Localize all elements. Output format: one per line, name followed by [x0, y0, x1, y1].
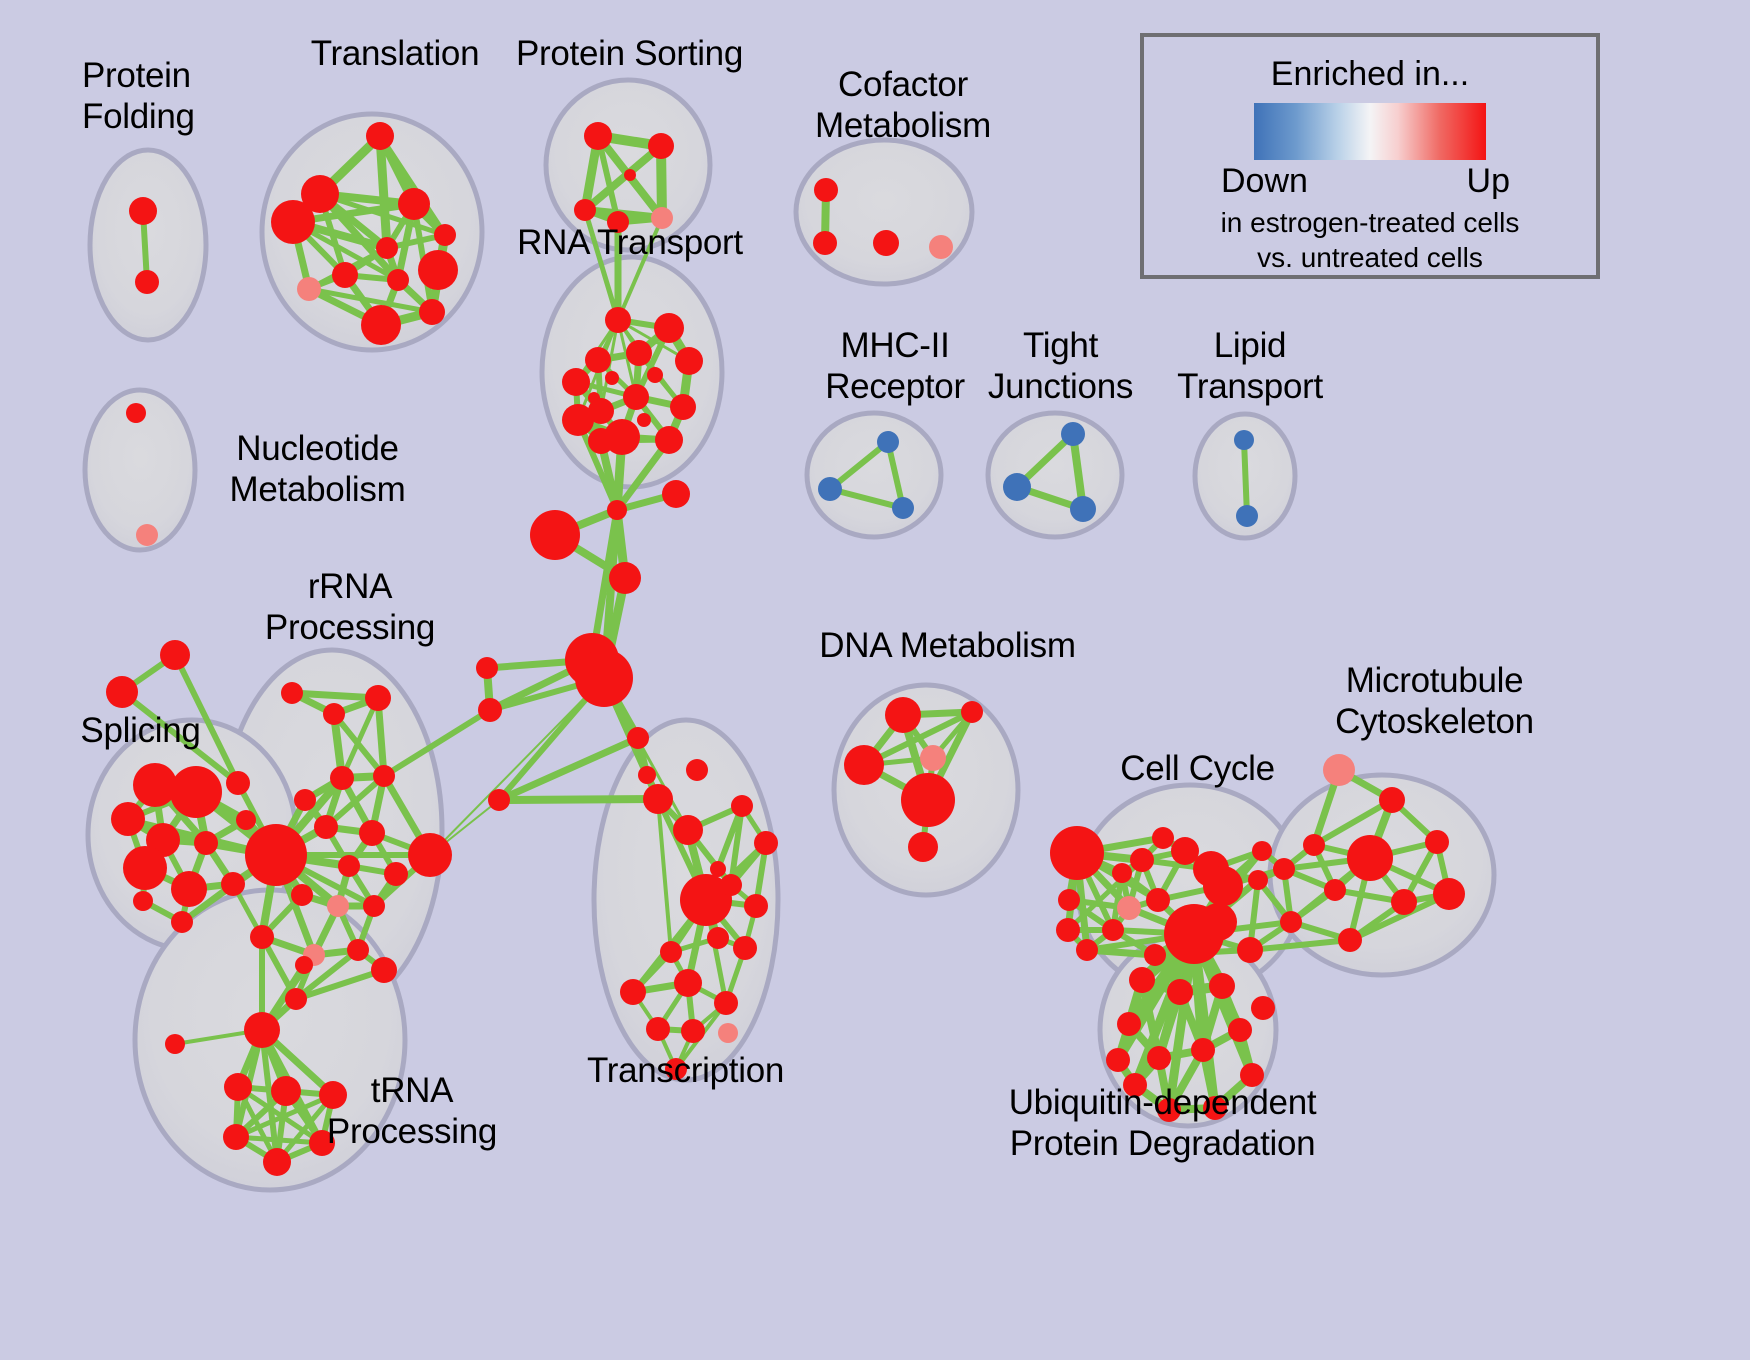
cluster-label-microtubule-cytoskeleton: Microtubule Cytoskeleton — [1302, 660, 1567, 742]
cluster-label-transcription: Transcription — [568, 1050, 803, 1091]
legend-down-label: Down — [1221, 162, 1308, 201]
cluster-label-nucleotide-metabolism: Nucleotide Metabolism — [195, 428, 440, 510]
legend-box: Enriched in... Down Up in estrogen-treat… — [1140, 33, 1600, 279]
legend-color-gradient-bar — [1254, 103, 1486, 160]
hull-tight-junctions — [988, 413, 1122, 537]
cluster-label-lipid-transport: Lipid Transport — [1155, 325, 1345, 407]
cluster-label-cofactor-metabolism: Cofactor Metabolism — [793, 64, 1013, 146]
cluster-label-trna-processing: tRNA Processing — [312, 1070, 512, 1152]
cluster-label-dna-metabolism: DNA Metabolism — [810, 625, 1085, 666]
legend-caption-line-2: vs. untreated cells — [1144, 241, 1596, 274]
cluster-label-rrna-processing: rRNA Processing — [250, 566, 450, 648]
cluster-label-protein-sorting: Protein Sorting — [497, 33, 762, 74]
cluster-label-cell-cycle: Cell Cycle — [1100, 748, 1295, 789]
legend-endpoints: Down Up — [1220, 162, 1520, 204]
cluster-label-splicing: Splicing — [58, 710, 223, 751]
cluster-label-tight-junctions: Tight Junctions — [968, 325, 1153, 407]
cluster-label-translation: Translation — [285, 33, 505, 74]
legend-caption-line-1: in estrogen-treated cells — [1144, 206, 1596, 239]
network-figure: .hull{fill:url(#cgrad);stroke:#a9a9c2;st… — [0, 0, 1750, 1360]
legend-up-label: Up — [1467, 162, 1510, 201]
hull-protein-folding — [90, 150, 206, 340]
cluster-label-ubiquitin-protein-degradation: Ubiquitin-dependent Protein Degradation — [985, 1082, 1340, 1164]
cluster-label-protein-folding: Protein Folding — [82, 55, 272, 137]
cluster-label-rna-transport: RNA Transport — [505, 222, 755, 263]
cluster-label-mhc-ii-receptor: MHC-II Receptor — [800, 325, 990, 407]
hull-mhc-ii-receptor — [807, 413, 941, 537]
legend-title: Enriched in... — [1144, 55, 1596, 94]
